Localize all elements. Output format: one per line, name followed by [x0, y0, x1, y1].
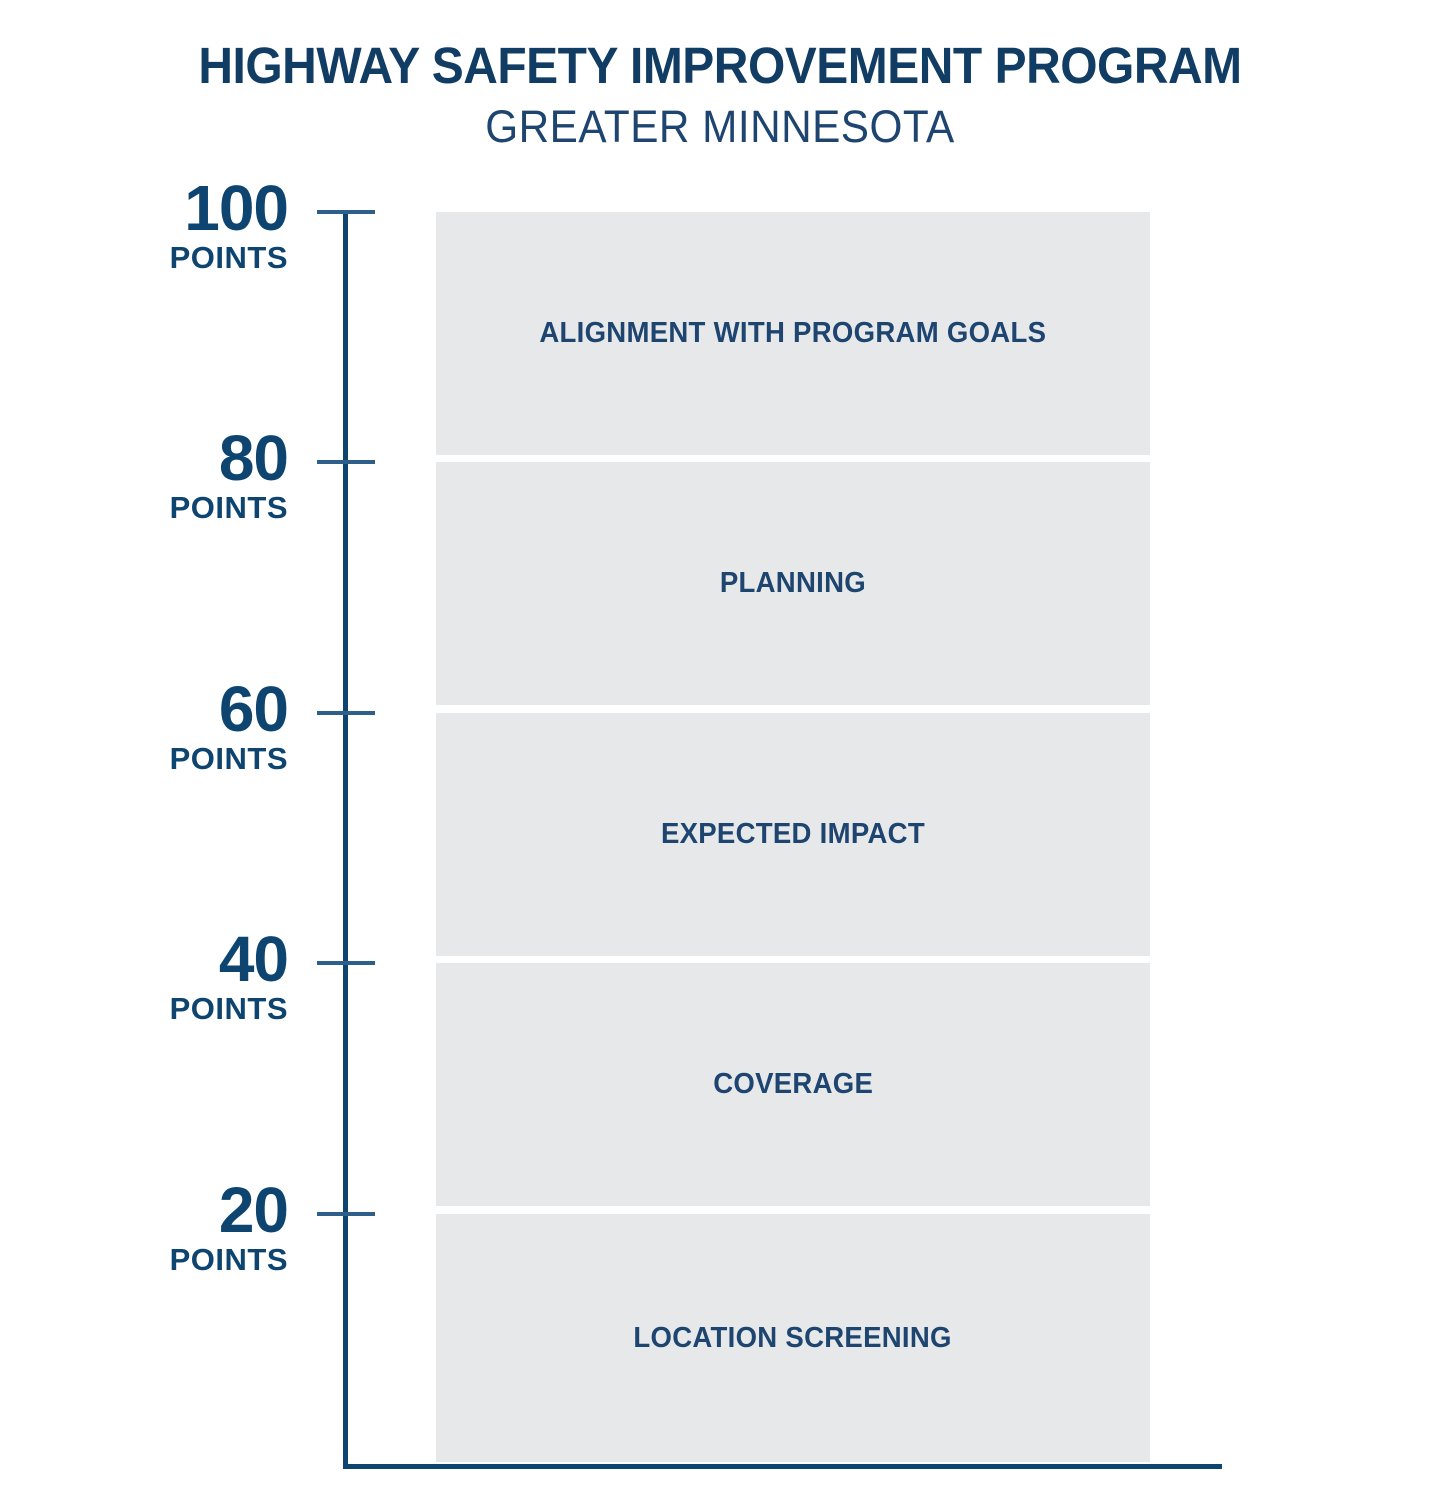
segment-label-location-screening: LOCATION SCREENING: [634, 1322, 952, 1355]
y-axis-label-100-value: 100: [28, 176, 288, 240]
segment-label-expected-impact: EXPECTED IMPACT: [661, 818, 925, 851]
y-axis-tick-100: [317, 210, 375, 214]
segment-label-alignment-with-program-goals: ALIGNMENT WITH PROGRAM GOALS: [540, 317, 1047, 350]
y-axis-label-60-unit: POINTS: [28, 741, 288, 774]
segment-coverage[interactable]: COVERAGE: [436, 963, 1150, 1206]
y-axis-tick-20: [317, 1212, 375, 1216]
y-axis-tick-60: [317, 711, 375, 715]
segment-expected-impact[interactable]: EXPECTED IMPACT: [436, 713, 1150, 956]
y-axis-label-40-value: 40: [28, 927, 288, 991]
x-axis-baseline: [343, 1464, 1222, 1469]
y-axis-label-40-unit: POINTS: [28, 991, 288, 1024]
segment-alignment-with-program-goals[interactable]: ALIGNMENT WITH PROGRAM GOALS: [436, 212, 1150, 455]
segment-label-planning: PLANNING: [720, 567, 866, 600]
y-axis-label-60: 60 POINTS: [28, 677, 288, 774]
segment-planning[interactable]: PLANNING: [436, 462, 1150, 705]
y-axis-label-100-unit: POINTS: [28, 240, 288, 273]
y-axis-line: [343, 212, 348, 1468]
y-axis-label-80-value: 80: [28, 426, 288, 490]
y-axis-tick-40: [317, 961, 375, 965]
y-axis-tick-80: [317, 460, 375, 464]
y-axis-label-20-value: 20: [28, 1178, 288, 1242]
y-axis-label-80: 80 POINTS: [28, 426, 288, 523]
segment-label-coverage: COVERAGE: [713, 1068, 873, 1101]
y-axis-label-20: 20 POINTS: [28, 1178, 288, 1275]
y-axis-label-60-value: 60: [28, 677, 288, 741]
y-axis-label-20-unit: POINTS: [28, 1242, 288, 1275]
y-axis-label-100: 100 POINTS: [28, 176, 288, 273]
stacked-points-chart: 100 POINTS 80 POINTS 60 POINTS 40 POINTS…: [0, 0, 1440, 1500]
segment-location-screening[interactable]: LOCATION SCREENING: [436, 1214, 1150, 1462]
y-axis-label-80-unit: POINTS: [28, 490, 288, 523]
y-axis-label-40: 40 POINTS: [28, 927, 288, 1024]
